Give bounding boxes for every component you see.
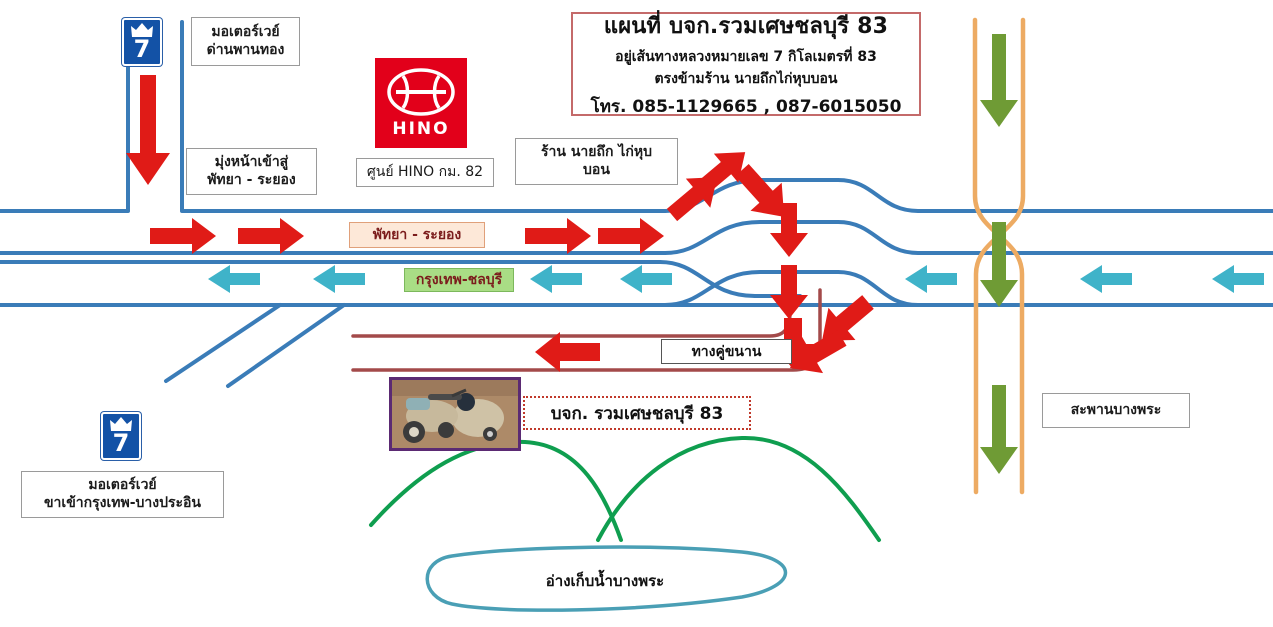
hino-emblem-icon xyxy=(386,67,456,117)
teal-direction-arrows xyxy=(208,265,1264,293)
highway-shield-bottom: 7 xyxy=(101,412,141,460)
label-bang-phra-bridge: สะพานบางพระ xyxy=(1042,393,1190,428)
label-nai-thuek-shop: ร้าน นายถึก ไก่หุบ บอน xyxy=(515,138,678,185)
shield-number-bottom: 7 xyxy=(113,431,130,455)
green-hills xyxy=(371,438,879,540)
label-hino-center: ศูนย์ HINO กม. 82 xyxy=(356,158,494,187)
vespa-sidecar-illustration xyxy=(392,380,518,448)
chip-pattaya-rayong: พัทยา - ระยอง xyxy=(349,222,485,248)
label-reservoir: อ่างเก็บน้ำบางพระ xyxy=(505,569,705,593)
title-card: แผนที่ บจก.รวมเศษชลบุรี 83 อยู่เส้นทางหล… xyxy=(571,12,921,116)
title-line-2: อยู่เส้นทางหลวงหมายเลข 7 กิโลเมตรที่ 83 xyxy=(615,46,877,68)
label-heading-pattaya-rayong: มุ่งหน้าเข้าสู่ พัทยา - ระยอง xyxy=(186,148,317,195)
green-direction-arrows xyxy=(980,34,1018,474)
title-line-3: ตรงข้ามร้าน นายถึกไก่หุบบอน xyxy=(654,68,837,90)
shield-number-top: 7 xyxy=(134,37,151,61)
map-canvas: แผนที่ บจก.รวมเศษชลบุรี 83 อยู่เส้นทางหล… xyxy=(0,0,1273,627)
label-motorway-bangkok-bangpain: มอเตอร์เวย์ ขาเข้ากรุงเทพ-บางประอิน xyxy=(21,471,224,518)
title-phone-line: โทร. 085-1129665 , 087-6015050 xyxy=(591,93,902,120)
chip-bangkok-chonburi: กรุงเทพ-ชลบุรี xyxy=(404,268,514,292)
highway-shield-top: 7 xyxy=(122,18,162,66)
label-motorway-phan-thong: มอเตอร์เวย์ ด่านพานทอง xyxy=(191,17,300,66)
vespa-sidecar-photo xyxy=(389,377,521,451)
label-frontage-road: ทางคู่ขนาน xyxy=(661,339,792,364)
hino-logo: HINO xyxy=(375,58,467,148)
hino-wordmark: HINO xyxy=(392,119,449,139)
orange-local-road xyxy=(975,20,1023,492)
label-company-name: บจก. รวมเศษชลบุรี 83 xyxy=(523,396,751,430)
title-line-1: แผนที่ บจก.รวมเศษชลบุรี 83 xyxy=(604,8,888,43)
